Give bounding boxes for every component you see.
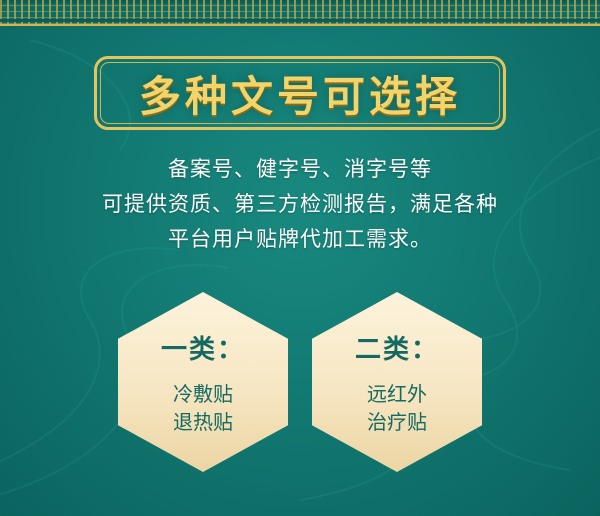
title-plaque: 多种文号可选择 — [94, 56, 506, 130]
badge-one-line-2: 退热贴 — [173, 408, 233, 436]
badge-two-line-1: 远红外 — [367, 380, 427, 408]
top-border-edge-lower — [0, 19, 600, 22]
paragraph-line-1: 备案号、健字号、消字号等 — [0, 152, 600, 187]
badge-one-title: 一类： — [161, 329, 245, 366]
badge-two-items: 远红外 治疗贴 — [367, 380, 427, 436]
badge-two-title: 二类： — [355, 329, 439, 366]
badge-two-line-2: 治疗贴 — [367, 408, 427, 436]
paragraph-line-2: 可提供资质、第三方检测报告，满足各种 — [0, 187, 600, 222]
badge-one-line-1: 冷敷贴 — [173, 380, 233, 408]
badge-row: 一类： 冷敷贴 退热贴 二类： 远红外 治疗贴 — [0, 292, 600, 472]
poster-paragraph: 备案号、健字号、消字号等 可提供资质、第三方检测报告，满足各种 平台用户贴牌代加… — [0, 152, 600, 257]
poster-title: 多种文号可选择 — [94, 56, 506, 130]
poster-canvas: 多种文号可选择 备案号、健字号、消字号等 可提供资质、第三方检测报告，满足各种 … — [0, 0, 600, 516]
badge-category-one: 一类： 冷敷贴 退热贴 — [118, 292, 288, 472]
badge-one-items: 冷敷贴 退热贴 — [173, 380, 233, 436]
badge-category-two: 二类： 远红外 治疗贴 — [312, 292, 482, 472]
ornamental-top-border — [0, 0, 600, 26]
paragraph-line-3: 平台用户贴牌代加工需求。 — [0, 222, 600, 257]
